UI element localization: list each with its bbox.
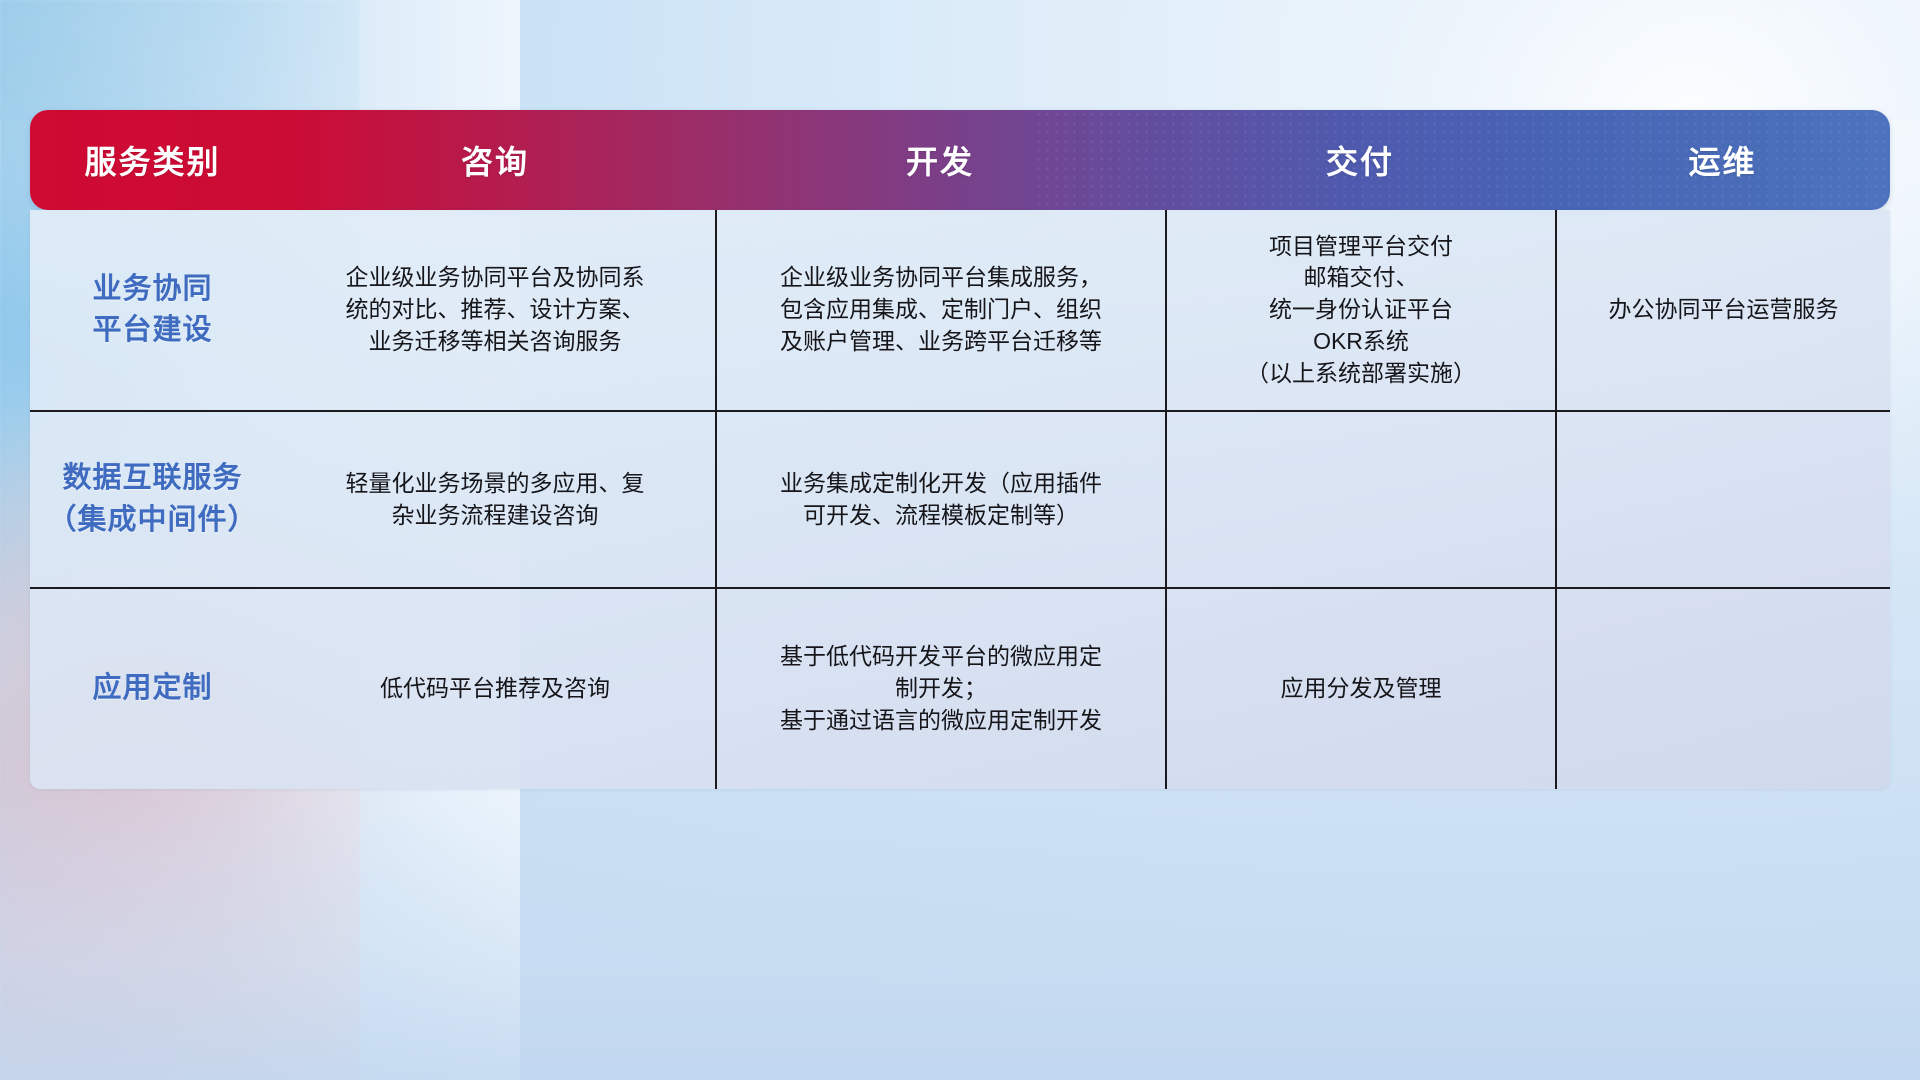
table-header-row: 服务类别 咨询 开发 交付 运维	[30, 110, 1890, 210]
table-row: 数据互联服务 （集成中间件） 轻量化业务场景的多应用、复 杂业务流程建设咨询 业…	[30, 410, 1890, 587]
cell-delivery: 应用分发及管理	[1165, 589, 1555, 789]
column-header-category: 服务类别	[30, 137, 275, 183]
cell-consulting: 低代码平台推荐及咨询	[275, 589, 715, 789]
column-header-consulting: 咨询	[275, 137, 715, 183]
cell-operations	[1555, 589, 1890, 789]
table-body: 业务协同 平台建设 企业级业务协同平台及协同系 统的对比、推荐、设计方案、 业务…	[30, 210, 1890, 789]
background-bottom-gradient	[0, 780, 1920, 1080]
table-row: 应用定制 低代码平台推荐及咨询 基于低代码开发平台的微应用定 制开发； 基于通过…	[30, 587, 1890, 789]
column-header-operations: 运维	[1555, 137, 1890, 183]
row-label-business-collaboration: 业务协同 平台建设	[30, 210, 275, 410]
cell-consulting: 轻量化业务场景的多应用、复 杂业务流程建设咨询	[275, 412, 715, 587]
table-row: 业务协同 平台建设 企业级业务协同平台及协同系 统的对比、推荐、设计方案、 业务…	[30, 210, 1890, 410]
cell-development: 业务集成定制化开发（应用插件 可开发、流程模板定制等）	[715, 412, 1165, 587]
cell-development: 基于低代码开发平台的微应用定 制开发； 基于通过语言的微应用定制开发	[715, 589, 1165, 789]
cell-delivery: 项目管理平台交付 邮箱交付、 统一身份认证平台 OKR系统 （以上系统部署实施）	[1165, 210, 1555, 410]
column-header-development: 开发	[715, 137, 1165, 183]
service-matrix-table: 服务类别 咨询 开发 交付 运维 业务协同 平台建设 企业级业务协同平台及协同系…	[30, 110, 1890, 789]
cell-consulting: 企业级业务协同平台及协同系 统的对比、推荐、设计方案、 业务迁移等相关咨询服务	[275, 210, 715, 410]
column-header-delivery: 交付	[1165, 137, 1555, 183]
row-label-data-interconnect: 数据互联服务 （集成中间件）	[30, 412, 275, 587]
cell-operations	[1555, 412, 1890, 587]
row-label-app-customization: 应用定制	[30, 589, 275, 789]
cell-operations: 办公协同平台运营服务	[1555, 210, 1890, 410]
cell-delivery	[1165, 412, 1555, 587]
cell-development: 企业级业务协同平台集成服务， 包含应用集成、定制门户、组织 及账户管理、业务跨平…	[715, 210, 1165, 410]
